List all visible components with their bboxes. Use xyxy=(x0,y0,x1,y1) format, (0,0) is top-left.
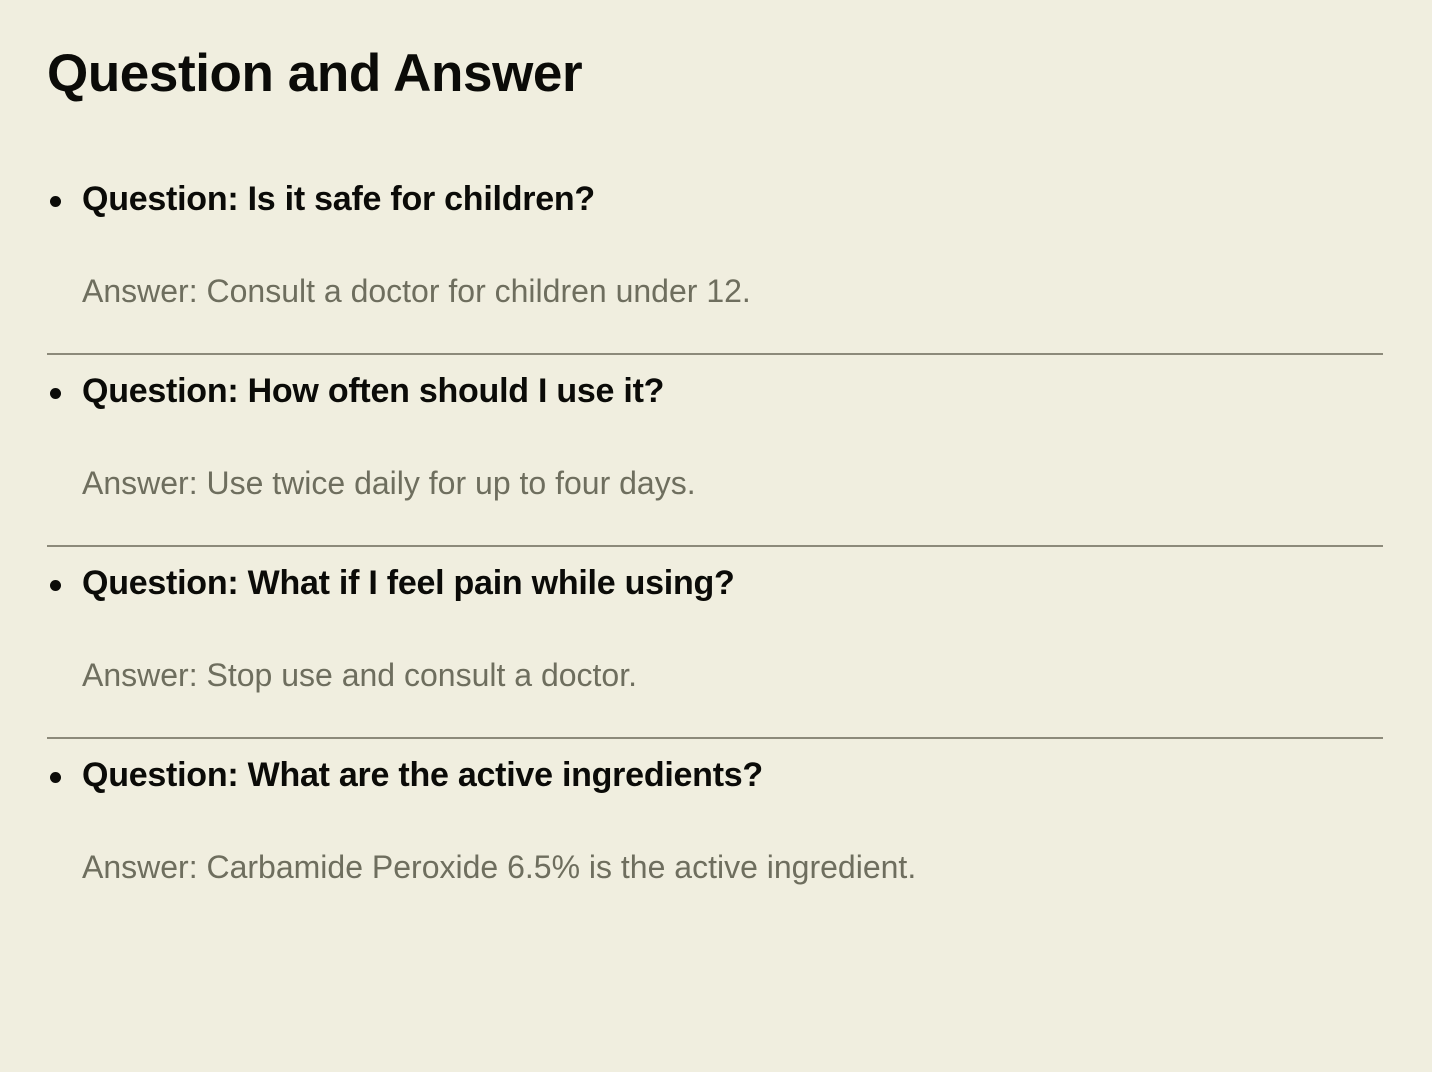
page-title: Question and Answer xyxy=(47,44,582,103)
bullet-icon xyxy=(50,772,61,783)
question-row: Question: What are the active ingredient… xyxy=(47,753,1384,799)
qa-item: Question: What are the active ingredient… xyxy=(0,753,1432,888)
question-text: Question: Is it safe for children? xyxy=(82,177,1384,223)
answer-text: Answer: Consult a doctor for children un… xyxy=(47,271,1384,313)
qa-item: Question: What if I feel pain while usin… xyxy=(0,561,1432,739)
qa-page: Question and Answer Question: Is it safe… xyxy=(0,0,1432,1072)
question-row: Question: Is it safe for children? xyxy=(47,177,1384,223)
qa-divider xyxy=(47,545,1383,547)
qa-item: Question: How often should I use it? Ans… xyxy=(0,369,1432,547)
question-text: Question: What if I feel pain while usin… xyxy=(82,561,1384,607)
bullet-icon xyxy=(50,196,61,207)
qa-divider xyxy=(47,737,1383,739)
question-text: Question: How often should I use it? xyxy=(82,369,1384,415)
question-text: Question: What are the active ingredient… xyxy=(82,753,1384,799)
answer-text: Answer: Use twice daily for up to four d… xyxy=(47,463,1384,505)
qa-item: Question: Is it safe for children? Answe… xyxy=(0,177,1432,355)
answer-text: Answer: Stop use and consult a doctor. xyxy=(47,655,1384,697)
bullet-icon xyxy=(50,580,61,591)
question-row: Question: What if I feel pain while usin… xyxy=(47,561,1384,607)
qa-divider xyxy=(47,353,1383,355)
qa-list: Question: Is it safe for children? Answe… xyxy=(0,160,1432,889)
question-row: Question: How often should I use it? xyxy=(47,369,1384,415)
answer-text: Answer: Carbamide Peroxide 6.5% is the a… xyxy=(47,847,1384,889)
bullet-icon xyxy=(50,388,61,399)
